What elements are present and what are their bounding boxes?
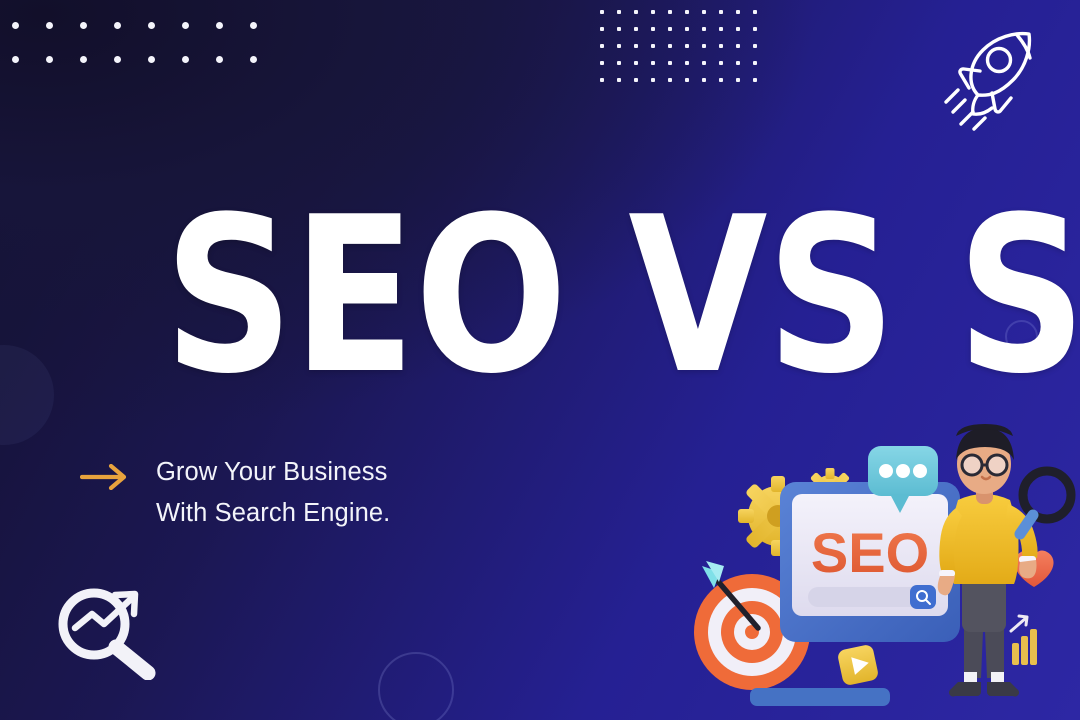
grid-dot xyxy=(617,44,621,48)
grid-dot xyxy=(753,10,757,14)
grid-dot xyxy=(617,78,621,82)
grid-dot xyxy=(685,61,689,65)
screen-seo-text: SEO xyxy=(811,521,929,584)
grid-dot xyxy=(114,22,121,29)
grid-dot xyxy=(685,44,689,48)
grid-dot xyxy=(617,61,621,65)
grid-dot xyxy=(216,22,223,29)
grid-dot xyxy=(80,22,87,29)
grid-dot xyxy=(617,10,621,14)
grid-dot xyxy=(634,44,638,48)
grid-dot xyxy=(753,78,757,82)
grid-dot xyxy=(668,61,672,65)
grid-dot xyxy=(216,56,223,63)
grid-dot xyxy=(685,10,689,14)
tagline-text: Grow Your Business With Search Engine. xyxy=(156,452,390,535)
grid-dot xyxy=(600,61,604,65)
grid-dot xyxy=(651,10,655,14)
rocket-icon xyxy=(933,22,1051,140)
grid-dot xyxy=(600,78,604,82)
grid-dot xyxy=(148,56,155,63)
grid-dot xyxy=(250,56,257,63)
grid-dot xyxy=(719,44,723,48)
grid-dot xyxy=(12,22,19,29)
grid-dot xyxy=(46,56,53,63)
dot-grid-center-top xyxy=(600,10,770,95)
grid-dot xyxy=(719,78,723,82)
arrow-right-icon xyxy=(80,464,128,490)
grid-dot xyxy=(668,27,672,31)
soft-circle-left-edge xyxy=(0,345,54,445)
grid-dot xyxy=(668,44,672,48)
grid-dot xyxy=(634,27,638,31)
headline-block: SEO VS SEM xyxy=(164,212,944,380)
grid-dot xyxy=(12,56,19,63)
grid-dot xyxy=(182,22,189,29)
grid-dot xyxy=(668,10,672,14)
grid-dot xyxy=(736,44,740,48)
dot-grid-top-left xyxy=(12,22,284,90)
grid-dot xyxy=(634,78,638,82)
search-bar-graphic xyxy=(808,585,936,609)
grid-dot xyxy=(148,22,155,29)
grid-dot xyxy=(736,10,740,14)
grid-dot xyxy=(719,27,723,31)
circle-outline-bottom xyxy=(378,652,454,720)
grid-dot xyxy=(46,22,53,29)
grid-dot xyxy=(736,78,740,82)
magnifier-growth-arrow-icon xyxy=(52,580,164,680)
grid-dot xyxy=(651,78,655,82)
grid-dot xyxy=(651,44,655,48)
grid-dot xyxy=(617,27,621,31)
grid-dot xyxy=(702,44,706,48)
play-button-icon xyxy=(837,644,880,687)
bar-chart-growth-icon xyxy=(1011,616,1037,665)
grid-dot xyxy=(702,78,706,82)
grid-dot xyxy=(753,27,757,31)
grid-dot xyxy=(634,61,638,65)
grid-dot xyxy=(685,78,689,82)
grid-dot xyxy=(80,56,87,63)
grid-dot xyxy=(702,61,706,65)
grid-dot xyxy=(668,78,672,82)
grid-dot xyxy=(182,56,189,63)
page-title: SEO VS SEM xyxy=(164,212,889,380)
grid-dot xyxy=(651,27,655,31)
grid-dot xyxy=(634,10,638,14)
grid-dot xyxy=(600,27,604,31)
grid-dot xyxy=(736,27,740,31)
grid-dot xyxy=(719,61,723,65)
grid-dot xyxy=(702,27,706,31)
seo-3d-illustration: SEO xyxy=(690,420,1080,720)
grid-dot xyxy=(600,10,604,14)
tagline-row: Grow Your Business With Search Engine. xyxy=(80,452,390,535)
magnifier-icon xyxy=(1020,471,1071,534)
grid-dot xyxy=(702,10,706,14)
seo-vs-sem-banner: SEO VS SEM Grow Your Business With Searc… xyxy=(0,0,1080,720)
grid-dot xyxy=(651,61,655,65)
grid-dot xyxy=(600,44,604,48)
grid-dot xyxy=(736,61,740,65)
grid-dot xyxy=(685,27,689,31)
grid-dot xyxy=(250,22,257,29)
grid-dot xyxy=(719,10,723,14)
grid-dot xyxy=(114,56,121,63)
grid-dot xyxy=(753,44,757,48)
grid-dot xyxy=(753,61,757,65)
